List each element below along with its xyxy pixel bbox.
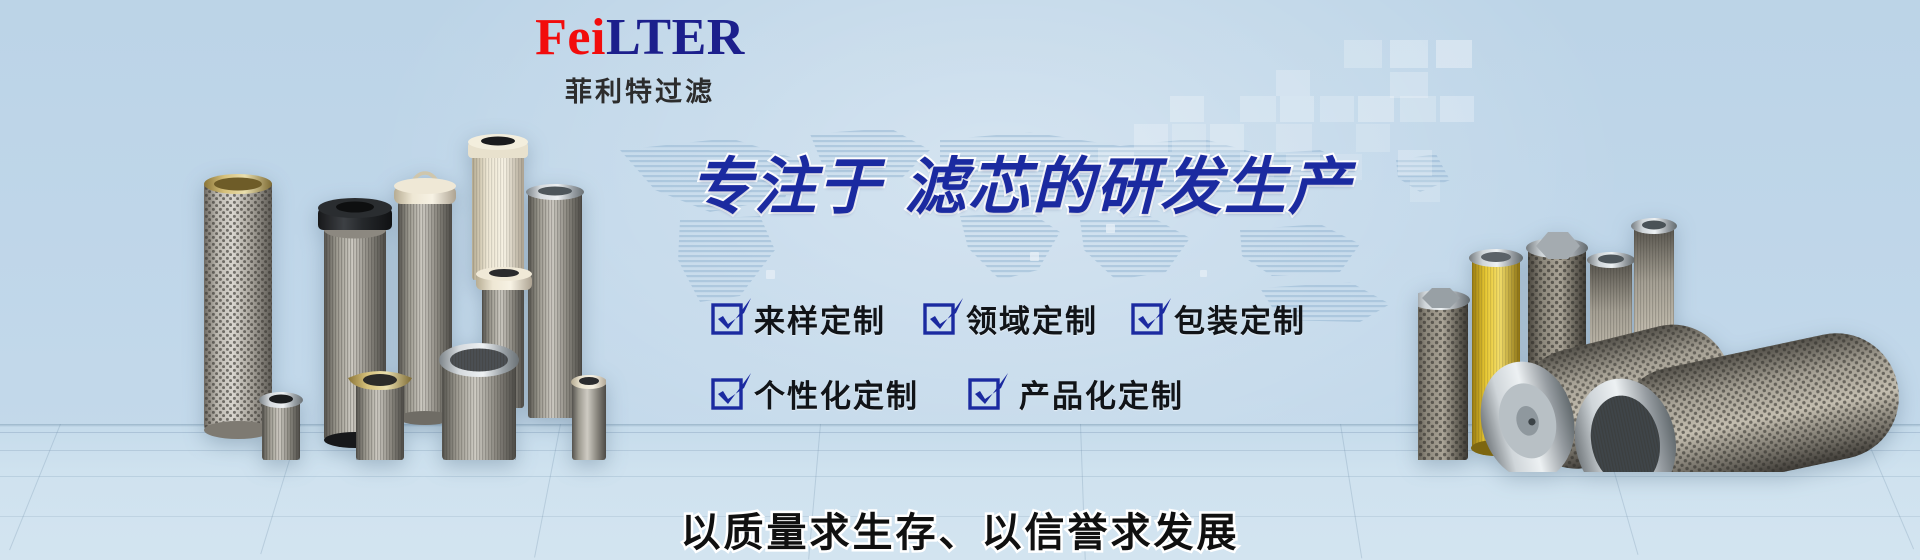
feature-item-chanpinhua[interactable]: 产品化定制: [969, 371, 1184, 416]
feature-row: 个性化定制 产品化定制: [712, 371, 1452, 416]
checkbox-check-icon: [712, 304, 742, 334]
checkbox-check-icon: [969, 379, 999, 409]
feature-item-laiyang[interactable]: 来样定制: [712, 296, 886, 341]
logo-wordmark: FeiLTER: [480, 10, 800, 66]
feature-row: 来样定制 领域定制 包装定制: [712, 296, 1452, 341]
checkbox-check-icon: [1132, 304, 1162, 334]
feature-list: 来样定制 领域定制 包装定制: [712, 296, 1452, 442]
headline-part2: 滤芯的研发生产: [904, 153, 1352, 222]
checkbox-check-icon: [924, 304, 954, 334]
logo-wordmark-lter: LTER: [606, 9, 745, 66]
checkbox-check-icon: [712, 379, 742, 409]
hydraulic-filter-cartridges-right: [1418, 172, 1918, 472]
hydraulic-filter-cartridges-left: [176, 130, 606, 460]
feature-item-gexinghua[interactable]: 个性化定制: [712, 371, 919, 416]
promo-banner: FeiLTER 菲利特过滤 专注于滤芯的研发生产 来样定制: [0, 0, 1920, 560]
feature-label: 包装定制: [1174, 296, 1306, 341]
headline: 专注于滤芯的研发生产: [690, 136, 1352, 226]
headline-part1: 专注于: [690, 153, 882, 222]
feature-label: 来样定制: [754, 296, 886, 341]
feature-item-baozhuang[interactable]: 包装定制: [1132, 296, 1306, 341]
logo-chinese-name: 菲利特过滤: [480, 70, 800, 109]
feature-label: 领域定制: [966, 296, 1098, 341]
feature-label: 个性化定制: [754, 371, 919, 416]
bottom-slogan: 以质量求生存、以信誉求发展: [560, 500, 1360, 558]
feature-item-lingyu[interactable]: 领域定制: [924, 296, 1098, 341]
logo-wordmark-fei: Fei: [535, 9, 606, 66]
brand-logo[interactable]: FeiLTER 菲利特过滤: [480, 10, 800, 109]
feature-label: 产品化定制: [1019, 371, 1184, 416]
